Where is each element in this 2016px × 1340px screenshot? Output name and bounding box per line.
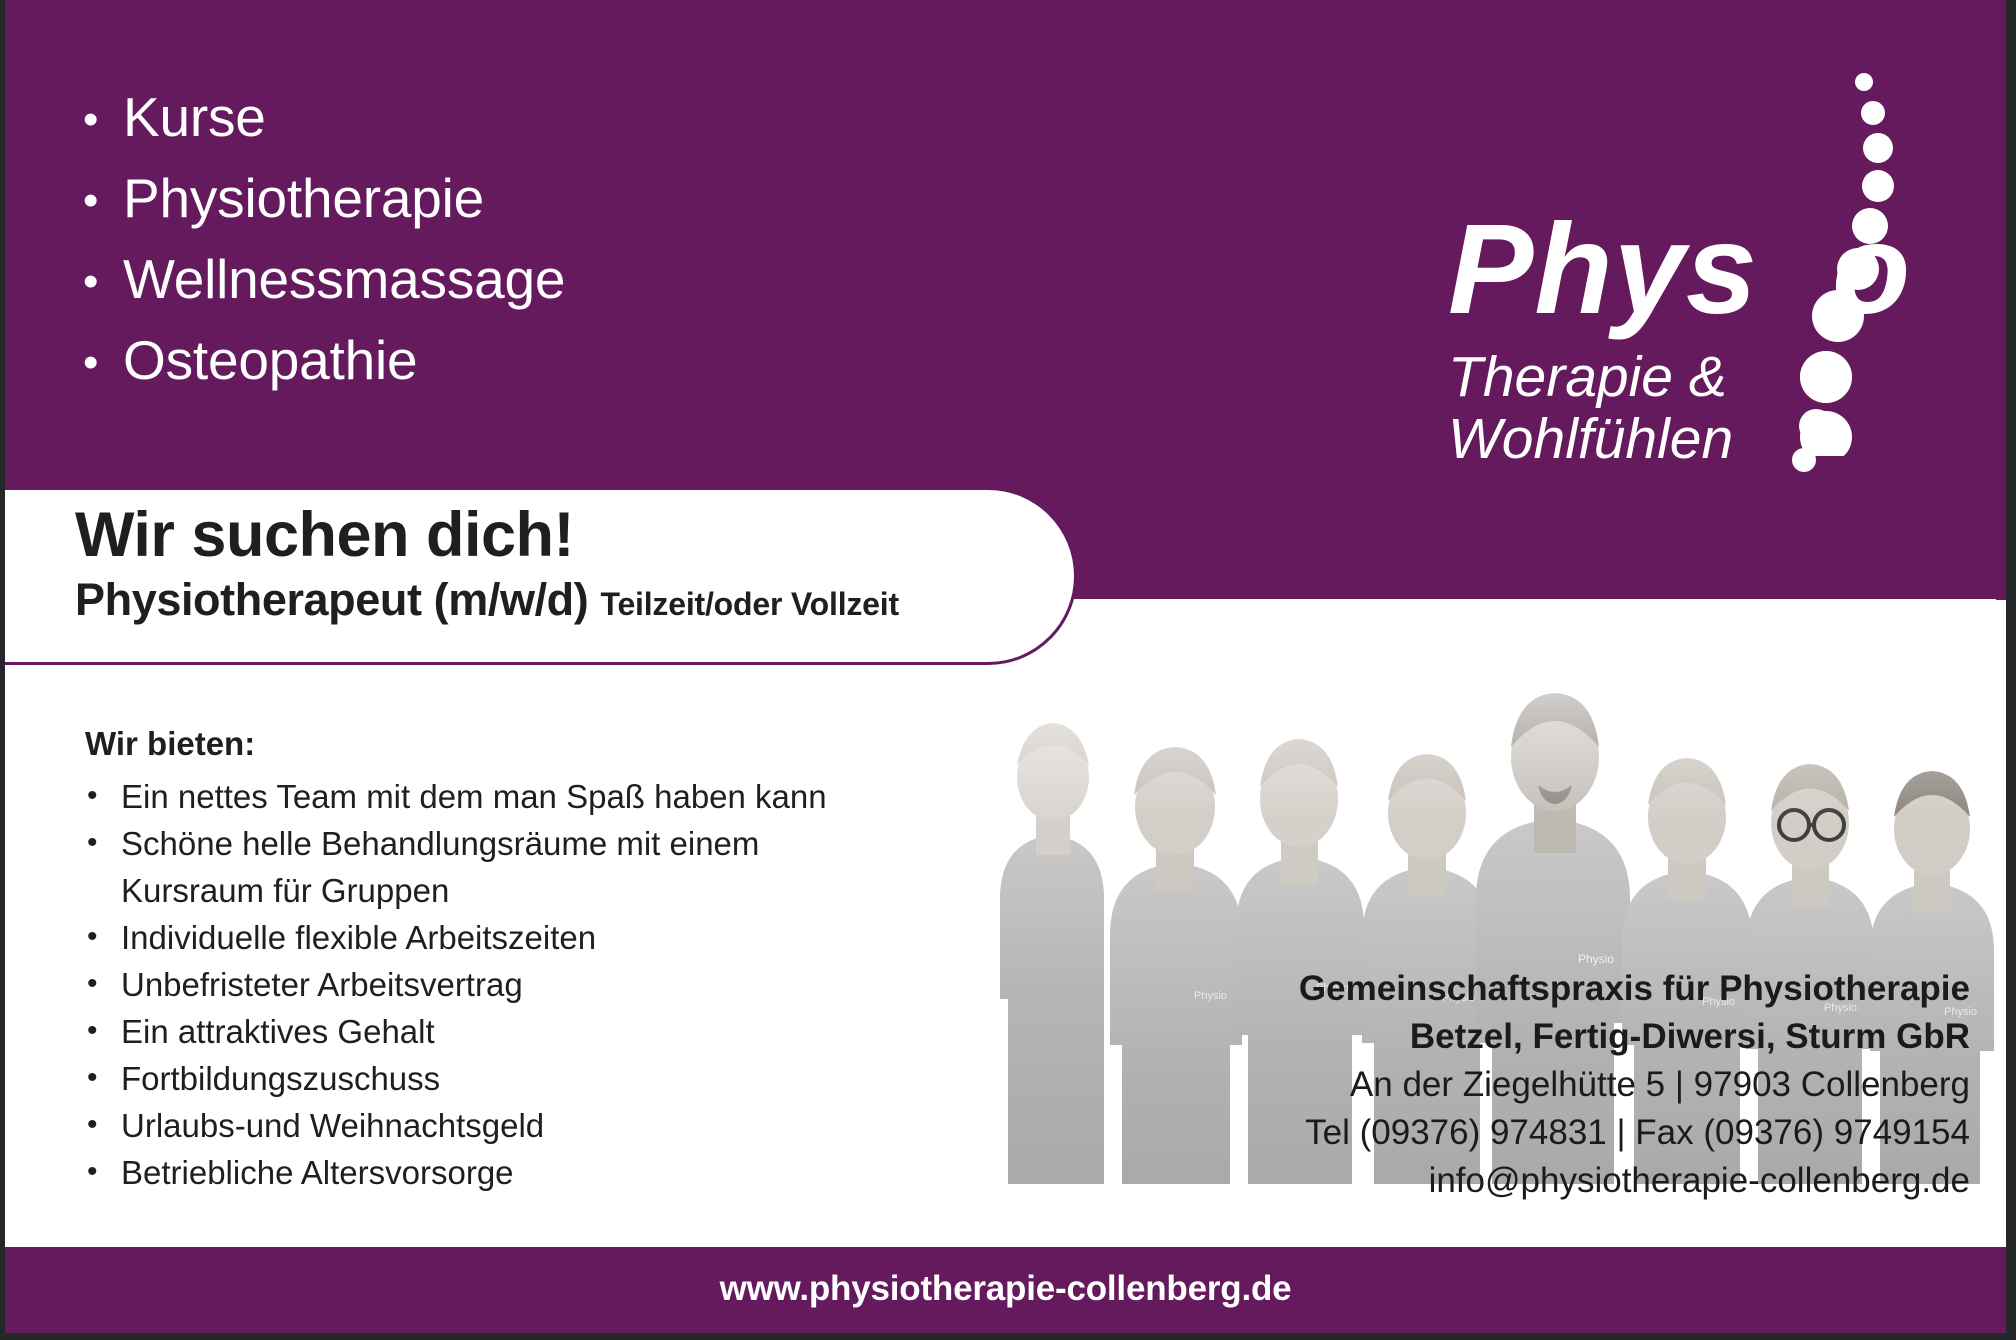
- job-role: Physiotherapeut (m/w/d): [75, 574, 588, 625]
- bullet-icon: •: [87, 772, 98, 819]
- service-item-kurse: •Kurse: [83, 78, 565, 159]
- service-label: Kurse: [123, 86, 266, 148]
- contact-phone-fax: Tel (09376) 974831 | Fax (09376) 9749154: [1299, 1109, 1970, 1157]
- bullet-icon: •: [83, 242, 123, 321]
- contact-email[interactable]: info@physiotherapie-collenberg.de: [1299, 1157, 1970, 1205]
- bullet-icon: •: [87, 960, 98, 1007]
- offer-item: •Ein attraktives Gehalt: [85, 1008, 965, 1055]
- flyer-poster: •Kurse •Physiotherapie •Wellnessmassage …: [0, 0, 2016, 1340]
- offer-item: •Unbefristeter Arbeitsvertrag: [85, 961, 965, 1008]
- service-item-wellnessmassage: •Wellnessmassage: [83, 240, 565, 321]
- bullet-icon: •: [87, 913, 98, 960]
- job-headline: Wir suchen dich!: [75, 498, 899, 572]
- bullet-icon: •: [87, 1054, 98, 1101]
- offers-block: Wir bieten: •Ein nettes Team mit dem man…: [85, 724, 965, 1196]
- job-role-line: Physiotherapeut (m/w/d) Teilzeit/oder Vo…: [75, 574, 899, 630]
- offer-text-continuation: Kursraum für Gruppen: [121, 867, 965, 914]
- offers-list: •Ein nettes Team mit dem man Spaß haben …: [85, 773, 965, 1196]
- brand-logo: Physo Therapie & Wohlfühlen: [1446, 56, 1966, 456]
- offer-text: Unbefristeter Arbeitsvertrag: [121, 966, 523, 1003]
- service-item-osteopathie: •Osteopathie: [83, 321, 565, 402]
- spine-dots-lower-icon: [1446, 56, 1966, 456]
- offer-item: •Schöne helle Behandlungsräume mit einem…: [85, 820, 965, 914]
- offer-item: •Ein nettes Team mit dem man Spaß haben …: [85, 773, 965, 820]
- offer-text: Ein attraktives Gehalt: [121, 1013, 435, 1050]
- offer-text: Ein nettes Team mit dem man Spaß haben k…: [121, 778, 827, 815]
- services-list: •Kurse •Physiotherapie •Wellnessmassage …: [83, 78, 565, 402]
- contact-partners: Betzel, Fertig-Diwersi, Sturm GbR: [1299, 1013, 1970, 1061]
- bullet-icon: •: [87, 819, 98, 866]
- footer-website-link[interactable]: www.physiotherapie-collenberg.de: [5, 1269, 2006, 1309]
- svg-text:Physio: Physio: [1578, 952, 1614, 966]
- bullet-icon: •: [87, 1148, 98, 1195]
- bullet-icon: •: [87, 1007, 98, 1054]
- service-label: Wellnessmassage: [123, 248, 565, 310]
- job-role-detail: Teilzeit/oder Vollzeit: [600, 586, 898, 622]
- offer-text: Urlaubs-und Weihnachtsgeld: [121, 1107, 544, 1144]
- bullet-icon: •: [83, 323, 123, 402]
- offer-item: •Fortbildungszuschuss: [85, 1055, 965, 1102]
- contact-practice-name: Gemeinschaftspraxis für Physiotherapie: [1299, 965, 1970, 1013]
- job-banner: Wir suchen dich! Physiotherapeut (m/w/d)…: [0, 487, 1077, 665]
- contact-address: An der Ziegelhütte 5 | 97903 Collenberg: [1299, 1061, 1970, 1109]
- offer-text: Schöne helle Behandlungsräume mit einem: [121, 825, 759, 862]
- offer-item: •Individuelle flexible Arbeitszeiten: [85, 914, 965, 961]
- bullet-icon: •: [87, 1101, 98, 1148]
- svg-text:Physio: Physio: [1194, 990, 1227, 1002]
- offer-text: Betriebliche Altersvorsorge: [121, 1154, 514, 1191]
- bullet-icon: •: [83, 80, 123, 159]
- service-label: Osteopathie: [123, 329, 417, 391]
- service-item-physiotherapie: •Physiotherapie: [83, 159, 565, 240]
- contact-block: Gemeinschaftspraxis für Physiotherapie B…: [1299, 965, 1970, 1205]
- offer-item: •Betriebliche Altersvorsorge: [85, 1149, 965, 1196]
- job-banner-content: Wir suchen dich! Physiotherapeut (m/w/d)…: [75, 498, 899, 630]
- service-label: Physiotherapie: [123, 167, 484, 229]
- bullet-icon: •: [83, 161, 123, 240]
- offer-text: Individuelle flexible Arbeitszeiten: [121, 919, 596, 956]
- offers-title: Wir bieten:: [85, 724, 965, 764]
- offer-text: Fortbildungszuschuss: [121, 1060, 440, 1097]
- offer-item: •Urlaubs-und Weihnachtsgeld: [85, 1102, 965, 1149]
- footer-band: www.physiotherapie-collenberg.de: [5, 1247, 2006, 1333]
